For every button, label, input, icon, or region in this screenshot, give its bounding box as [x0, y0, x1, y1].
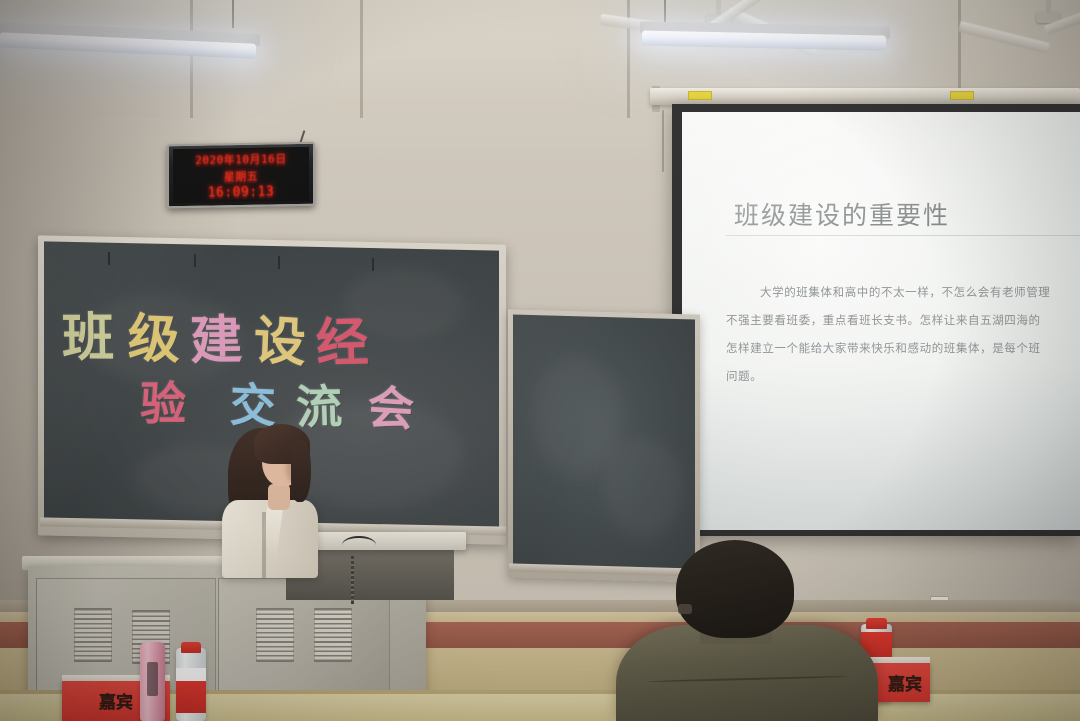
- screen-pull-cord[interactable]: [662, 110, 664, 172]
- projector-screen-housing: [650, 88, 1080, 105]
- speaker-hair-side: [291, 440, 311, 502]
- cabinet-vent: [256, 608, 294, 662]
- slide-divider: [726, 235, 1080, 236]
- chalk-char: 班: [61, 295, 114, 370]
- cabinet-vent: [314, 608, 352, 662]
- led-weekday: 星期五: [224, 167, 259, 184]
- ceiling-seam: [360, 0, 363, 118]
- warning-label: [688, 91, 712, 100]
- classroom-photo: 班级建设的重要性 大学的班集体和高中的不太一样，不怎么会有老师管理 不强主要看班…: [0, 0, 1080, 721]
- speaker-neck: [268, 484, 290, 510]
- blackboard-clip: [194, 254, 196, 267]
- microphone-cord: [351, 556, 354, 604]
- bottle-label: [176, 681, 206, 713]
- chalk-char: 验: [139, 368, 186, 434]
- blackboard-clip: [278, 256, 280, 269]
- slide-paragraph: 不强主要看班委，重点看班长支书。怎样让来自五湖四海的: [726, 306, 1080, 334]
- chalk-char: 流: [295, 371, 343, 438]
- bottle-label-white: [176, 668, 206, 681]
- bottle-cap: [866, 618, 887, 629]
- slide-paragraph: 怎样建立一个能给大家带来快乐和感动的班集体，是每个班: [726, 334, 1080, 362]
- secondary-blackboard: [513, 314, 695, 571]
- chalk-char: 经: [314, 300, 369, 376]
- thermos-label: [147, 662, 158, 696]
- chalk-char: 设: [253, 298, 308, 376]
- placard-text: 嘉宾: [888, 670, 922, 695]
- cabinet-vent: [74, 608, 112, 662]
- blackboard-clip: [108, 252, 110, 265]
- led-clock-screen: 2020年10月16日 星期五 16:09:13: [173, 147, 309, 203]
- blackboard-clip: [372, 258, 374, 271]
- bottle-cap: [181, 642, 201, 653]
- chalk-char: 建: [189, 298, 243, 374]
- slide-body: 大学的班集体和高中的不太一样，不怎么会有老师管理 不强主要看班委，重点看班长支书…: [726, 278, 1080, 390]
- audience-head: [676, 540, 794, 638]
- speaker-coat-placket: [262, 512, 266, 578]
- slide-title: 班级建设的重要性: [734, 196, 950, 232]
- led-clock: 2020年10月16日 星期五 16:09:13: [167, 142, 315, 209]
- glasses-temple-icon: [678, 604, 692, 614]
- led-date: 2020年10月16日: [195, 150, 286, 168]
- slide-paragraph: 大学的班集体和高中的不太一样，不怎么会有老师管理: [726, 278, 1080, 306]
- chalk-text-line-1: 班级建设经: [62, 295, 368, 376]
- led-time: 16:09:13: [208, 184, 275, 200]
- slide-paragraph: 问题。: [726, 362, 1080, 390]
- chalk-char: 会: [367, 371, 415, 440]
- placard-text: 嘉宾: [99, 688, 133, 713]
- chalk-char: 级: [127, 296, 181, 373]
- warning-label: [950, 91, 974, 100]
